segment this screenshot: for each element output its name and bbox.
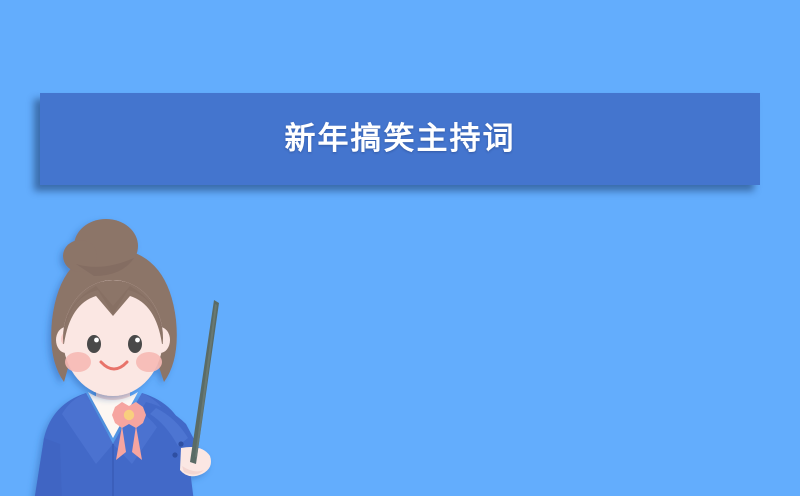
teacher-illustration: [18, 212, 248, 496]
eye-right-highlight: [135, 338, 140, 343]
blush-left: [65, 352, 91, 372]
eye-right: [128, 335, 142, 353]
eye-left: [87, 335, 101, 353]
page-title: 新年搞笑主持词: [285, 124, 516, 155]
sleeve-button-upper: [178, 441, 183, 446]
eye-left-highlight: [94, 338, 99, 343]
pointer-stick: [190, 300, 219, 464]
sleeve-button-lower: [172, 452, 177, 457]
pointer-stick-highlight: [195, 304, 217, 458]
jacket-shadow-left: [34, 438, 62, 496]
slide-canvas: 新年搞笑主持词: [0, 0, 800, 496]
title-banner: 新年搞笑主持词: [40, 93, 760, 185]
blush-right: [136, 352, 162, 372]
badge-center: [124, 410, 134, 420]
teacher-head: [51, 219, 177, 396]
